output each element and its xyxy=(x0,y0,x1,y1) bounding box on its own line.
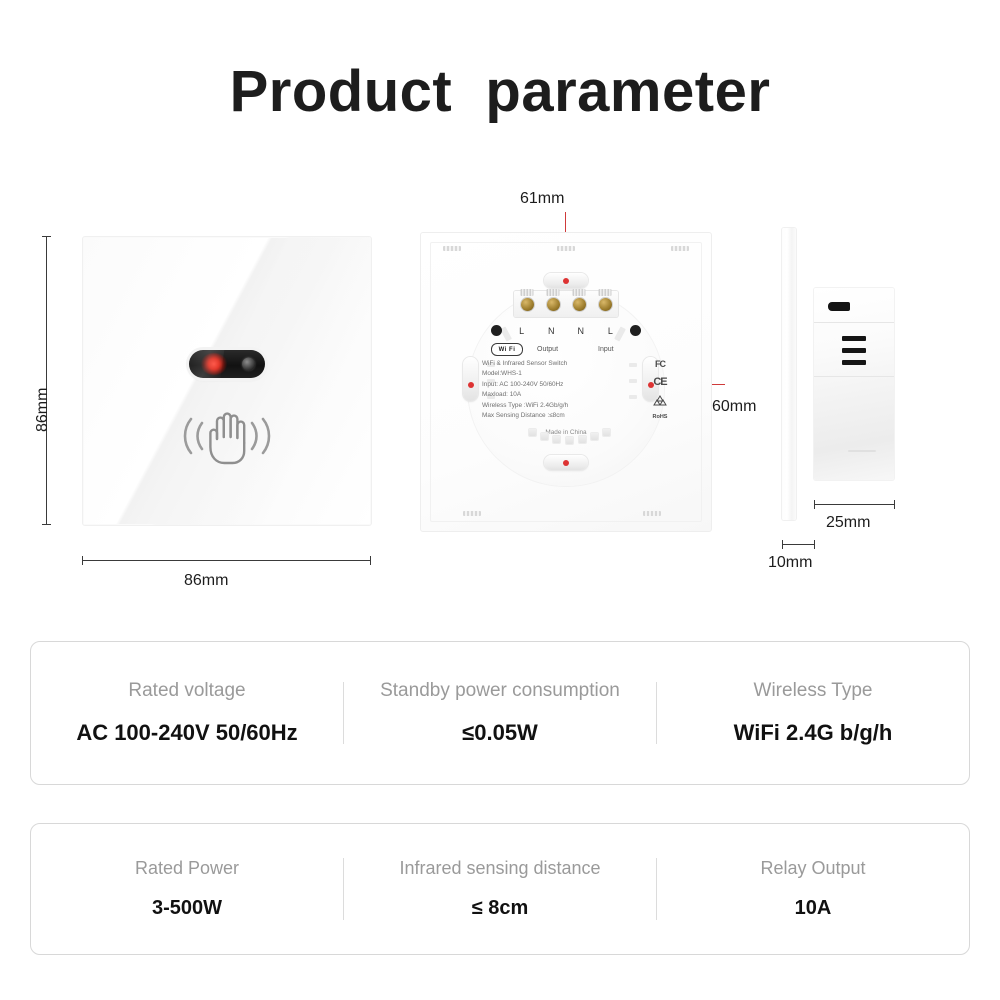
front-panel-view xyxy=(82,236,372,526)
side-vent-bar-2 xyxy=(842,348,866,353)
bottom-vent-4 xyxy=(566,437,573,444)
front-height-tick-bottom xyxy=(42,524,51,525)
spec-cell-wireless-type: Wireless Type WiFi 2.4G b/g/h xyxy=(657,680,969,746)
side-dark-slot-icon xyxy=(828,302,850,311)
spec-cell-rated-power: Rated Power 3-500W xyxy=(31,858,343,920)
spec-label-wireless-type: Wireless Type xyxy=(665,680,961,702)
clip-mark-top-left xyxy=(443,246,461,251)
spec-label-standby-power: Standby power consumption xyxy=(352,680,648,702)
terminal-screw-4 xyxy=(599,298,612,311)
input-label: Input xyxy=(598,346,614,353)
terminal-dot-left xyxy=(491,325,502,336)
page-title: Product parameter xyxy=(0,58,1000,125)
side-vent-bar-1 xyxy=(842,336,866,341)
rohs-icon: RoHS xyxy=(653,414,668,420)
clip-mark-bottom-right xyxy=(643,511,661,516)
front-height-dim-line xyxy=(46,236,47,524)
side-bottom-line xyxy=(848,450,876,452)
spec-value-relay-output: 10A xyxy=(665,897,961,920)
back-view-group: 61mm 60mm xyxy=(420,232,712,532)
terminal-dot-right xyxy=(630,325,641,336)
back-height-label: 60mm xyxy=(712,398,756,416)
ce-icon: CE xyxy=(653,376,666,388)
spec-value-wireless-type: WiFi 2.4G b/g/h xyxy=(665,720,961,746)
side-depth-dim-line xyxy=(814,504,894,505)
clip-mark-top-center xyxy=(557,246,575,251)
front-height-tick-top xyxy=(42,236,51,237)
front-width-tick-right xyxy=(370,556,371,565)
front-width-label: 86mm xyxy=(184,572,228,590)
clip-mark-top-right xyxy=(671,246,689,251)
spec-label-rated-voltage: Rated voltage xyxy=(39,680,335,702)
recycle-icon xyxy=(652,395,668,407)
terminal-screw-2 xyxy=(547,298,560,311)
terminal-block xyxy=(514,291,618,317)
hand-wave-icon xyxy=(169,405,285,467)
bottom-vent-6 xyxy=(591,433,598,440)
terminal-screw-1 xyxy=(521,298,534,311)
sensor-window xyxy=(189,350,265,378)
side-vent-bar-3 xyxy=(842,360,866,365)
glass-thickness-tick-left xyxy=(782,540,783,549)
mount-slot-top-center-dot xyxy=(563,278,569,284)
glass-thickness-label: 10mm xyxy=(768,554,812,572)
clip-mark-bottom-left xyxy=(463,511,481,516)
back-width-label: 61mm xyxy=(520,190,564,208)
spec-cell-standby-power: Standby power consumption ≤0.05W xyxy=(344,680,656,746)
io-label-row: Wi Fi Output Input xyxy=(491,343,641,356)
spec-value-rated-voltage: AC 100-240V 50/60Hz xyxy=(39,720,335,746)
spec-label-rated-power: Rated Power xyxy=(39,858,335,879)
back-printed-spec-text: WiFi & Infrared Sensor Switch Model:WHS-… xyxy=(482,359,650,421)
wifi-badge-icon: Wi Fi xyxy=(491,343,523,356)
mount-slot-left-center-dot xyxy=(468,382,474,388)
spec-card-row-2: Rated Power 3-500W Infrared sensing dist… xyxy=(30,823,970,955)
side-seam-lower xyxy=(814,376,894,377)
spec-cell-relay-output: Relay Output 10A xyxy=(657,858,969,920)
bottom-vent-7 xyxy=(603,429,610,436)
made-in-label: Made in China xyxy=(545,429,586,436)
bottom-vent-5 xyxy=(579,436,586,443)
terminal-label-row: L N N L xyxy=(491,325,641,336)
bottom-vent-2 xyxy=(541,433,548,440)
mount-slot-left xyxy=(463,357,478,401)
product-figures: 86mm 86mm 61mm 60mm xyxy=(0,180,1000,600)
front-view-group: 86mm 86mm xyxy=(82,236,372,526)
glass-thickness-dim-line xyxy=(782,544,814,545)
glass-gloss-overlay xyxy=(83,237,371,525)
terminal-label-3: N xyxy=(571,326,591,336)
terminal-label-4: L xyxy=(600,326,620,336)
spec-label-relay-output: Relay Output xyxy=(665,858,961,879)
back-panel-view: L N N L Wi Fi Output Input WiFi & Infrar… xyxy=(420,232,712,532)
side-seam-upper xyxy=(814,322,894,323)
mount-slot-bottom-center-dot xyxy=(563,460,569,466)
output-label: Output xyxy=(537,346,558,353)
spec-value-standby-power: ≤0.05W xyxy=(352,720,648,746)
bottom-vent-3 xyxy=(553,436,560,443)
spec-cell-rated-voltage: Rated voltage AC 100-240V 50/60Hz xyxy=(31,680,343,746)
terminal-label-2: N xyxy=(541,326,561,336)
side-body xyxy=(814,288,894,480)
sensor-glass-shine xyxy=(189,350,225,378)
front-width-dim-line xyxy=(82,560,370,561)
ir-receiver-icon xyxy=(242,357,255,370)
side-depth-tick-right xyxy=(894,500,895,509)
glass-thickness-tick-right xyxy=(814,540,815,549)
fcc-icon: FC xyxy=(655,359,665,369)
product-parameter-page: Product parameter xyxy=(0,0,1000,1000)
side-depth-tick-left xyxy=(814,500,815,509)
spec-value-rated-power: 3-500W xyxy=(39,897,335,920)
spec-value-infrared-distance: ≤ 8cm xyxy=(352,897,648,920)
terminal-label-1: L xyxy=(512,326,532,336)
spec-label-infrared-distance: Infrared sensing distance xyxy=(352,858,648,879)
terminal-screw-3 xyxy=(573,298,586,311)
front-width-tick-left xyxy=(82,556,83,565)
spec-cell-infrared-distance: Infrared sensing distance ≤ 8cm xyxy=(344,858,656,920)
front-height-label: 86mm xyxy=(34,388,52,432)
side-depth-label: 25mm xyxy=(826,514,870,532)
spec-card-row-1: Rated voltage AC 100-240V 50/60Hz Standb… xyxy=(30,641,970,785)
certification-marks: FC CE RoHS xyxy=(643,359,677,420)
side-glass-panel xyxy=(782,228,796,520)
bottom-vent-1 xyxy=(529,429,536,436)
